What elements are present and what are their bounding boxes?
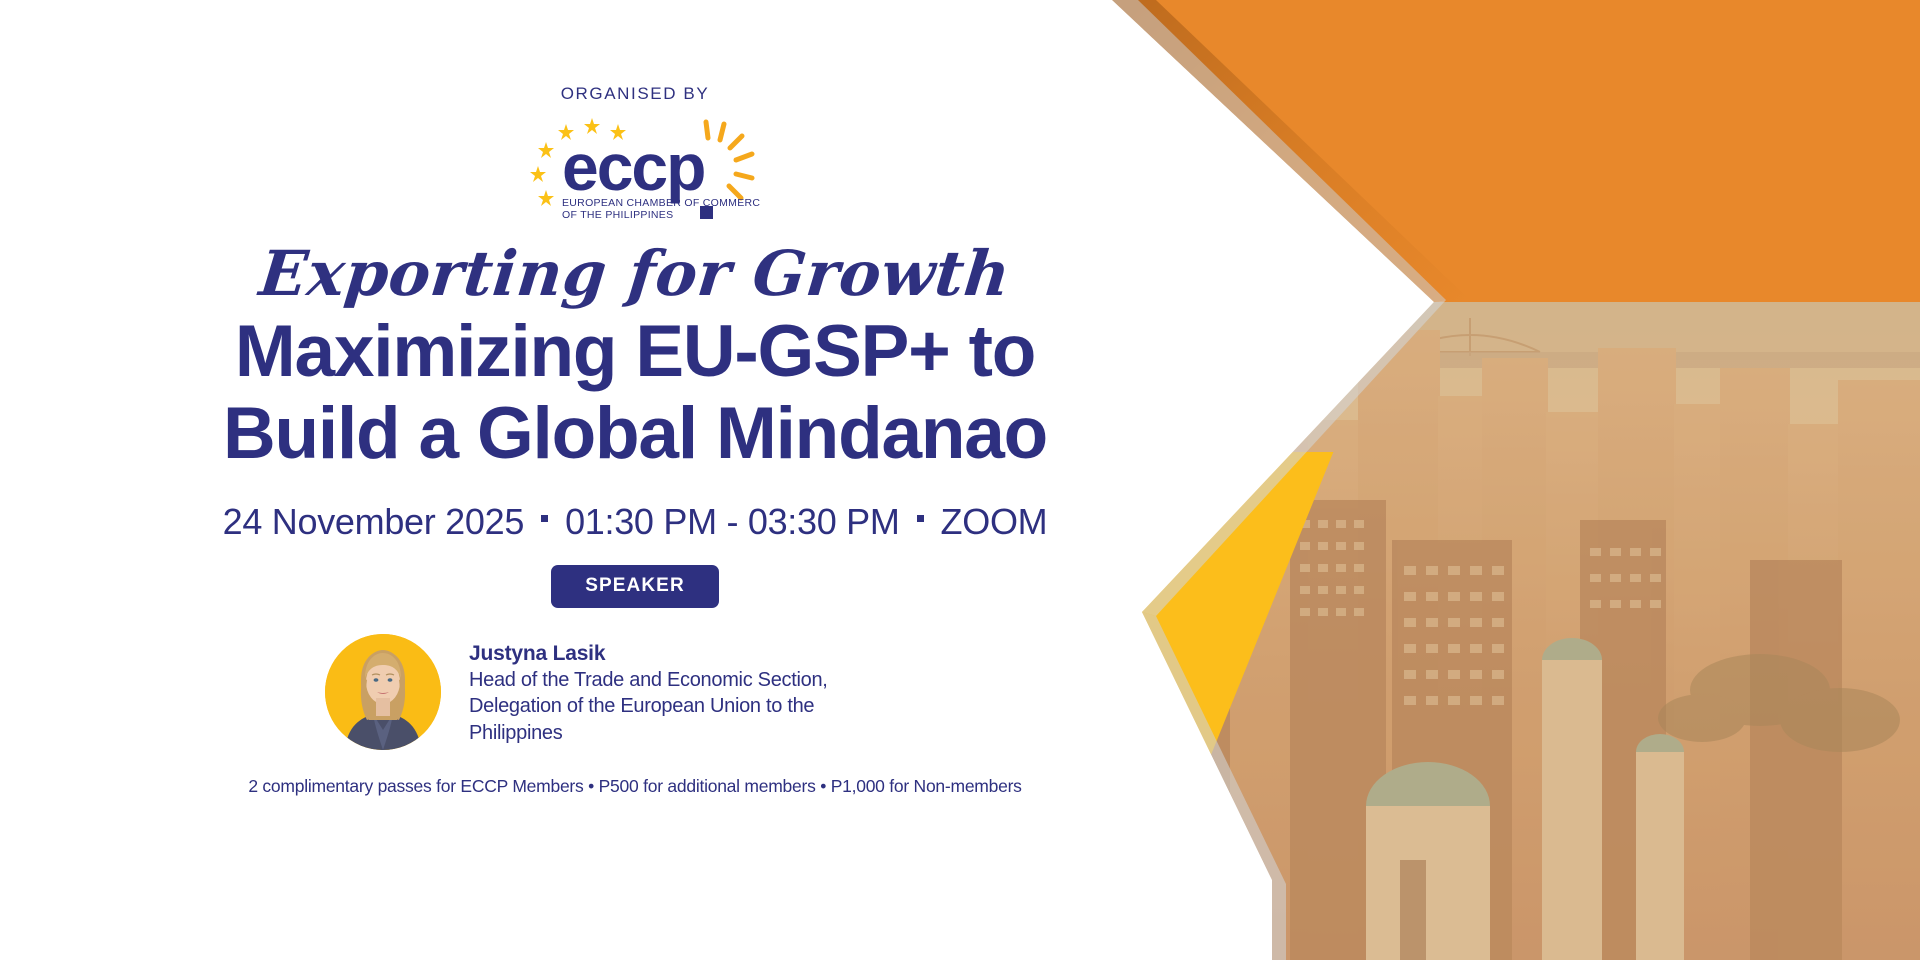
event-title-line-1: Maximizing EU-GSP+ to: [223, 311, 1047, 393]
pricing-note: 2 complimentary passes for ECCP Members …: [248, 776, 1021, 797]
sun-rays-icon: [706, 122, 752, 198]
event-script-title: Exporting for Growth: [257, 242, 1014, 305]
event-venue: ZOOM: [941, 501, 1048, 543]
event-banner: ORGANISED BY: [0, 0, 1920, 960]
speaker-block: Justyna Lasik Head of the Trade and Econ…: [325, 634, 985, 750]
event-meta: 24 November 2025 01:30 PM - 03:30 PM ZOO…: [223, 501, 1048, 543]
separator-dot-icon: [541, 515, 548, 522]
speaker-text: Justyna Lasik Head of the Trade and Econ…: [469, 634, 889, 746]
event-title-line-2: Build a Global Mindanao: [223, 393, 1047, 475]
speaker-role: Head of the Trade and Economic Section, …: [469, 667, 889, 746]
event-date: 24 November 2025: [223, 501, 524, 543]
organised-by-label: ORGANISED BY: [561, 84, 710, 104]
speaker-name: Justyna Lasik: [469, 640, 889, 667]
speaker-avatar: [325, 634, 441, 750]
banner-content: ORGANISED BY: [0, 0, 1270, 960]
event-title: Maximizing EU-GSP+ to Build a Global Min…: [223, 311, 1047, 475]
eccp-tagline-line2: OF THE PHILIPPINES: [562, 209, 673, 221]
separator-dot-icon: [917, 515, 924, 522]
eccp-wordmark: eccp: [562, 130, 704, 204]
eccp-logo: eccp EUROPEAN CHAMBER OF COMMERCE OF THE…: [510, 118, 760, 226]
eccp-tagline-line1: EUROPEAN CHAMBER OF COMMERCE: [562, 197, 760, 209]
event-time: 01:30 PM - 03:30 PM: [565, 501, 899, 543]
speaker-badge: SPEAKER: [551, 565, 719, 608]
eccp-square-dot: [700, 206, 713, 219]
